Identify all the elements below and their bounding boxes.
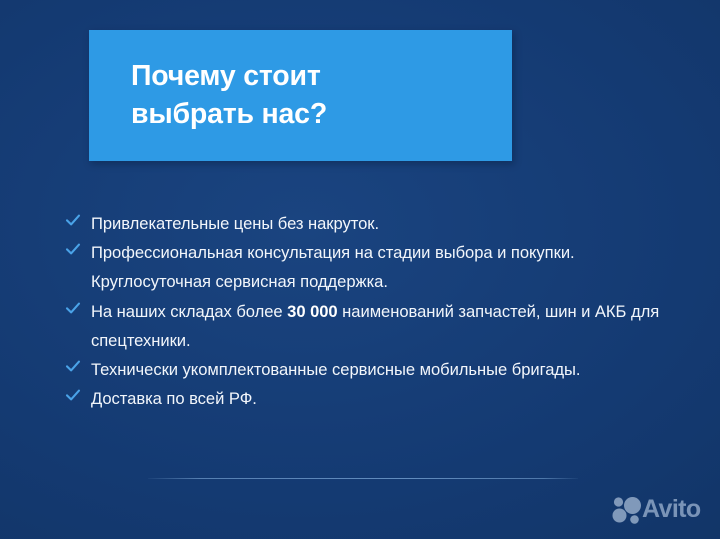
check-icon — [65, 388, 81, 403]
list-item: Доставка по всей РФ. — [63, 384, 663, 413]
list-item-highlight-count: 30 000 — [287, 302, 337, 321]
avito-watermark: Avito — [612, 494, 708, 528]
slide-canvas: Почему стоит выбрать нас? Привлекательны… — [0, 0, 720, 539]
check-icon — [65, 359, 81, 374]
list-item-label: На наших складах более 30 000 наименован… — [91, 297, 663, 355]
list-item-label: Профессиональная консультация на стадии … — [91, 238, 663, 296]
list-item: На наших складах более 30 000 наименован… — [63, 297, 663, 355]
list-item-label: Привлекательные цены без накруток. — [91, 209, 663, 238]
title-banner: Почему стоит выбрать нас? — [89, 30, 512, 161]
avito-wordmark: Avito — [642, 494, 701, 524]
divider — [148, 478, 578, 479]
list-item: Профессиональная консультация на стадии … — [63, 238, 663, 296]
avito-dots-logo-icon — [612, 496, 642, 524]
list-item-label: Технически укомплектованные сервисные мо… — [91, 355, 663, 384]
list-item: Технически укомплектованные сервисные мо… — [63, 355, 663, 384]
benefits-list: Привлекательные цены без накруток. Профе… — [63, 209, 663, 413]
check-icon — [65, 242, 81, 257]
list-item-text-before: На наших складах более — [91, 302, 287, 321]
list-item: Привлекательные цены без накруток. — [63, 209, 663, 238]
check-icon — [65, 301, 81, 316]
check-icon — [65, 213, 81, 228]
list-item-label: Доставка по всей РФ. — [91, 384, 663, 413]
page-title: Почему стоит выбрать нас? — [131, 57, 491, 133]
